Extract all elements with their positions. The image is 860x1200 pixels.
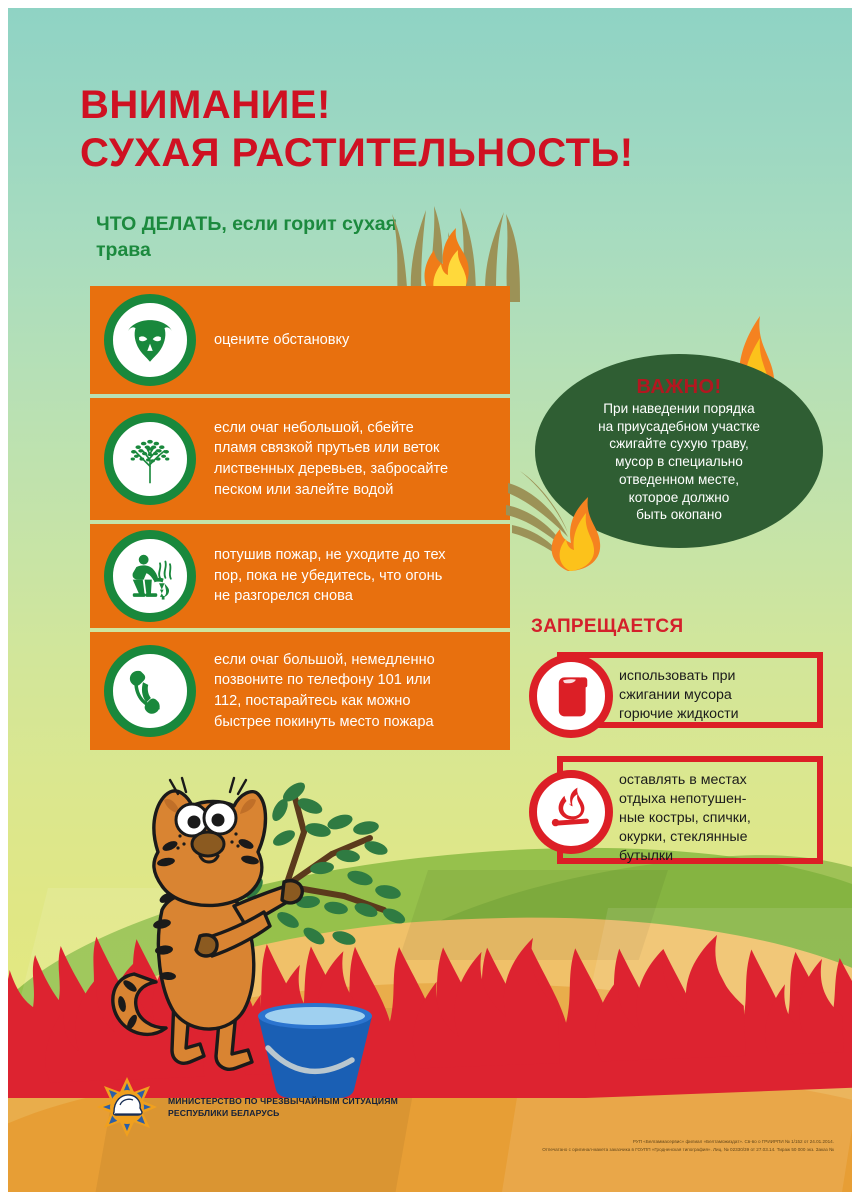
step-1-text: оцените обстановку bbox=[196, 330, 510, 351]
forbidden-item-2: оставлять в местах отдыха непотушен- ные… bbox=[557, 756, 823, 864]
ministry-block: МИНИСТЕРСТВО ПО ЧРЕЗВЫЧАЙНЫМ СИТУАЦИЯМ Р… bbox=[96, 1076, 398, 1138]
beating-fire-icon bbox=[121, 547, 179, 605]
step-1-badge bbox=[104, 294, 196, 386]
oval-grass-flame-decor bbox=[506, 463, 636, 573]
ban-1-badge bbox=[529, 654, 613, 738]
step-2-text: если очаг небольшой, сбейте пламя связко… bbox=[196, 418, 510, 501]
forbidden-item-1: использовать при сжигании мусора горючие… bbox=[557, 652, 823, 728]
important-title: ВАЖНО! bbox=[636, 376, 721, 399]
howto-step-1: оцените обстановку bbox=[90, 286, 510, 394]
step-3-text: потушив пожар, не уходите до тех пор, по… bbox=[196, 545, 510, 607]
ministry-name: МИНИСТЕРСТВО ПО ЧРЕЗВЫЧАЙНЫМ СИТУАЦИЯМ Р… bbox=[168, 1095, 398, 1119]
page-title-line2: СУХАЯ РАСТИТЕЛЬНОСТЬ! bbox=[80, 132, 634, 174]
ban-2-badge bbox=[529, 770, 613, 854]
phone-icon bbox=[122, 663, 178, 719]
print-imprint: РУП «Белгаммасервис» филиал «Белтаможизд… bbox=[394, 1138, 834, 1153]
mask-icon bbox=[121, 311, 179, 369]
howto-heading-strong: ЧТО ДЕЛАТЬ, bbox=[96, 213, 227, 235]
step-4-badge bbox=[104, 645, 196, 737]
step-3-badge bbox=[104, 530, 196, 622]
step-2-badge bbox=[104, 413, 196, 505]
poster-canvas: ВНИМАНИЕ! СУХАЯ РАСТИТЕЛЬНОСТЬ! ЧТО ДЕЛА… bbox=[8, 8, 852, 1192]
forbidden-heading: ЗАПРЕЩАЕТСЯ bbox=[531, 616, 683, 638]
burning-match-icon bbox=[545, 786, 597, 838]
howto-step-2: если очаг небольшой, сбейте пламя связко… bbox=[90, 398, 510, 520]
jerrycan-icon bbox=[545, 670, 597, 722]
mchs-star-helmet-logo bbox=[96, 1076, 158, 1138]
howto-step-4: если очаг большой, немедленно позвоните … bbox=[90, 632, 510, 750]
cat-illustration bbox=[108, 760, 468, 1100]
tree-icon bbox=[121, 430, 179, 488]
page-title-line1: ВНИМАНИЕ! bbox=[80, 84, 331, 126]
step-4-text: если очаг большой, немедленно позвоните … bbox=[196, 650, 510, 733]
howto-step-3: потушив пожар, не уходите до тех пор, по… bbox=[90, 524, 510, 628]
